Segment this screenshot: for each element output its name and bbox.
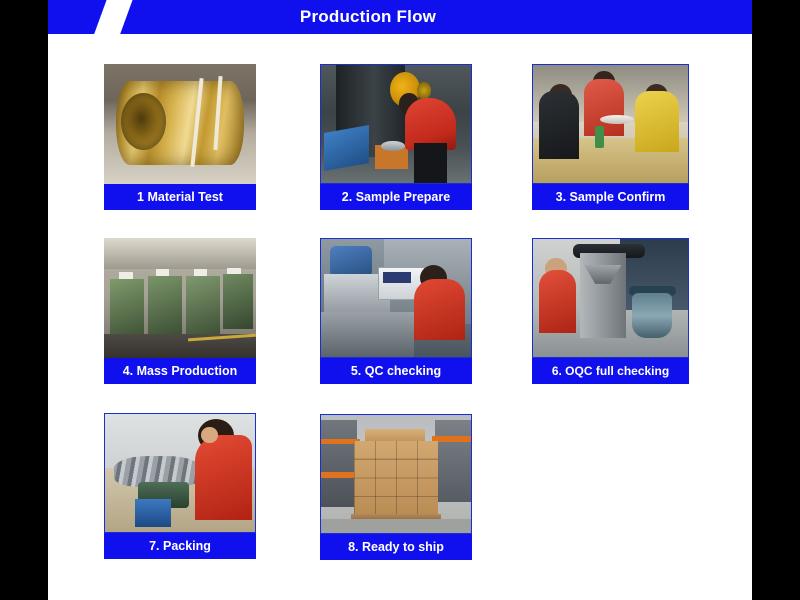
flow-cards-grid: 1 Material Test 2. Sample Prepare bbox=[48, 34, 752, 600]
flow-photo-mass-production bbox=[104, 238, 256, 358]
flow-label-7: 7. Packing bbox=[104, 533, 256, 559]
flow-card-4[interactable]: 4. Mass Production bbox=[104, 238, 256, 384]
flow-label-1: 1 Material Test bbox=[104, 184, 256, 210]
flow-photo-qc-checking bbox=[320, 238, 472, 358]
slide-header: Production Flow bbox=[48, 0, 752, 34]
flow-card-3[interactable]: 3. Sample Confirm bbox=[532, 64, 689, 210]
flow-photo-sample-confirm bbox=[532, 64, 689, 184]
slide-canvas: Production Flow 1 Material Test bbox=[48, 0, 752, 600]
flow-card-2[interactable]: 2. Sample Prepare bbox=[320, 64, 472, 210]
page-title: Production Flow bbox=[48, 0, 752, 34]
flow-label-8: 8. Ready to ship bbox=[320, 534, 472, 560]
flow-card-6[interactable]: 6. OQC full checking bbox=[532, 238, 689, 384]
flow-photo-ready-to-ship bbox=[320, 414, 472, 534]
slide-letterbox: Production Flow 1 Material Test bbox=[0, 0, 800, 600]
flow-label-2: 2. Sample Prepare bbox=[320, 184, 472, 210]
flow-photo-oqc-full-checking bbox=[532, 238, 689, 358]
flow-card-5[interactable]: 5. QC checking bbox=[320, 238, 472, 384]
flow-card-8[interactable]: 8. Ready to ship bbox=[320, 414, 472, 560]
flow-photo-packing bbox=[104, 413, 256, 533]
flow-card-1[interactable]: 1 Material Test bbox=[104, 64, 256, 210]
flow-photo-material-test bbox=[104, 64, 256, 184]
flow-photo-sample-prepare bbox=[320, 64, 472, 184]
flow-label-6: 6. OQC full checking bbox=[532, 358, 689, 384]
flow-label-5: 5. QC checking bbox=[320, 358, 472, 384]
flow-card-7[interactable]: 7. Packing bbox=[104, 413, 256, 559]
flow-label-3: 3. Sample Confirm bbox=[532, 184, 689, 210]
flow-label-4: 4. Mass Production bbox=[104, 358, 256, 384]
